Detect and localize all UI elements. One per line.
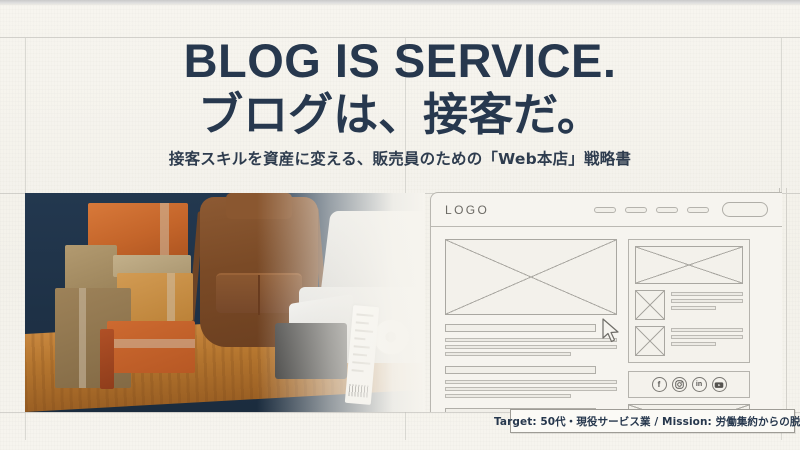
- sidebar-image-placeholder: [635, 246, 743, 284]
- photo-fade-overlay: [25, 193, 425, 412]
- nav-item-1[interactable]: [594, 207, 616, 213]
- sidebar-list-item[interactable]: [635, 326, 743, 356]
- wireframe-window: LOGO: [430, 192, 782, 412]
- social-links-bar: f in: [628, 371, 750, 398]
- wireframe-topbar: LOGO: [431, 193, 782, 227]
- wireframe-hero-image-placeholder: [445, 239, 617, 315]
- nav-item-4[interactable]: [687, 207, 709, 213]
- instagram-icon[interactable]: [672, 377, 687, 392]
- instagram-glyph: [675, 380, 684, 389]
- wireframe-logo: LOGO: [445, 203, 489, 217]
- facebook-icon[interactable]: f: [652, 377, 667, 392]
- target-mission-banner: Target: 50代・現役サービス業 / Mission: 労働集約からの脱出: [510, 409, 795, 433]
- banner-text: Target: 50代・現役サービス業 / Mission: 労働集約からの脱出: [494, 414, 800, 429]
- sidebar-spacer: [628, 363, 750, 371]
- headline-block: BLOG IS SERVICE. ブログは、接客だ。 接客スキルを資産に変える、…: [0, 36, 800, 169]
- top-edge-strip: [0, 0, 800, 5]
- wireframe-body: f in: [431, 227, 782, 412]
- wireframe-main-column: [445, 239, 617, 412]
- linkedin-icon[interactable]: in: [692, 377, 707, 392]
- nav-cta-button[interactable]: [722, 202, 768, 217]
- hero-photograph: [25, 193, 425, 412]
- wireframe-text-line: [445, 387, 617, 391]
- sidebar-list-item[interactable]: [635, 290, 743, 320]
- subtitle: 接客スキルを資産に変える、販売員のための「Web本店」戦略書: [0, 147, 800, 169]
- wireframe-text-line: [445, 380, 617, 384]
- website-wireframe-mock: LOGO: [430, 188, 795, 412]
- youtube-icon[interactable]: [712, 377, 727, 392]
- sidebar-thumbnail: [635, 326, 665, 356]
- wireframe-outer-line-2: [786, 188, 787, 412]
- wireframe-text-line: [445, 394, 571, 398]
- wireframe-text-line: [445, 352, 571, 356]
- youtube-glyph: [714, 381, 724, 389]
- wireframe-heading-bar-1: [445, 324, 596, 332]
- title-english: BLOG IS SERVICE.: [0, 36, 800, 86]
- nav-item-2[interactable]: [625, 207, 647, 213]
- sidebar-item-lines: [671, 290, 743, 320]
- wireframe-spacer: [445, 401, 617, 408]
- arrow-cursor-icon: [601, 318, 623, 344]
- nav-item-3[interactable]: [656, 207, 678, 213]
- wireframe-heading-bar-2: [445, 366, 596, 374]
- wireframe-nav: [594, 202, 768, 217]
- wireframe-sidebar-column: f in: [628, 239, 750, 412]
- wireframe-sidebar-card: [628, 239, 750, 363]
- wireframe-text-line: [445, 345, 617, 349]
- sidebar-item-lines: [671, 326, 743, 356]
- title-japanese: ブログは、接客だ。: [0, 89, 800, 140]
- wireframe-text-line: [445, 338, 617, 342]
- slide-canvas: BLOG IS SERVICE. ブログは、接客だ。 接客スキルを資産に変える、…: [0, 0, 800, 450]
- wireframe-spacer: [445, 359, 617, 366]
- sidebar-thumbnail: [635, 290, 665, 320]
